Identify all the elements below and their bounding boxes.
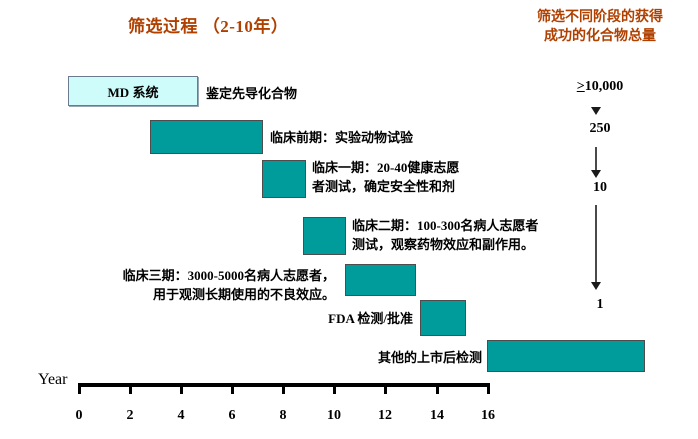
bar-phase-3 [345,264,416,296]
compound-count-1-value: 10,000 [585,79,624,94]
axis-tick-0 [78,387,81,394]
page-title: 筛选过程 （2-10年） [128,12,288,37]
stage-label-preclinical: 临床前期：实验动物试验 [270,128,413,147]
arrow-head-icon [591,170,601,178]
axis-caption-year: Year [38,371,67,389]
stage-label-post-market: 其他的上市后检测 [320,348,482,367]
axis-tick-6 [231,387,234,394]
right-column-heading: 筛选不同阶段的获得 成功的化合物总量 [510,8,690,46]
bar-fda-review [420,300,466,336]
compound-count-3: 10 [530,180,670,196]
stage-label-phase-2-line-1: 临床二期：100-300名病人志愿者 [352,216,538,235]
stage-label-fda-review: FDA 检测/批准 [250,309,413,328]
axis-tick-label-2: 2 [118,408,142,424]
bar-preclinical [150,120,263,154]
bar-phase-2 [303,217,346,255]
axis-tick-4 [180,387,183,394]
arrow-head-icon [591,107,601,115]
compound-count-2: 250 [530,121,670,137]
axis-tick-label-14: 14 [425,408,449,424]
stage-label-phase-1-line-2: 者测试，确定安全性和剂 [312,177,459,196]
axis-tick-12 [384,387,387,394]
axis-tick-label-6: 6 [220,408,244,424]
axis-tick-label-0: 0 [67,408,91,424]
arrow-shaft [595,147,597,170]
stage-label-phase-1-line-1: 临床一期：20-40健康志愿 [312,158,459,177]
md-system-box: MD 系统 [68,76,198,106]
stage-label-phase-3-line-1: 临床三期：3000-5000名病人志愿者， [50,266,335,285]
compound-count-1: >10,000 [530,79,670,95]
axis-tick-label-8: 8 [271,408,295,424]
axis-tick-label-12: 12 [373,408,397,424]
stage-label-phase-2: 临床二期：100-300名病人志愿者 测试，观察药物效应和副作用。 [352,216,538,254]
stage-label-phase-2-line-2: 测试，观察药物效应和副作用。 [352,235,538,254]
arrow-shaft [595,205,597,282]
md-system-label: MD 系统 [108,82,159,101]
drug-development-timeline-diagram: 筛选过程 （2-10年） 筛选不同阶段的获得 成功的化合物总量 MD 系统 鉴定… [0,0,698,439]
axis-tick-14 [436,387,439,394]
axis-tick-label-4: 4 [169,408,193,424]
axis-tick-2 [129,387,132,394]
right-column-heading-line-2: 成功的化合物总量 [510,27,690,46]
stage-label-phase-1: 临床一期：20-40健康志愿 者测试，确定安全性和剂 [312,158,459,196]
stage-label-lead-identification: 鉴定先导化合物 [206,84,297,103]
axis-tick-16 [487,387,490,394]
bar-post-market [487,340,645,372]
bar-phase-1 [262,160,306,198]
arrow-down-3 [591,205,601,290]
axis-tick-10 [333,387,336,394]
greater-equal-symbol: > [577,79,585,94]
axis-tick-label-16: 16 [476,408,500,424]
axis-tick-label-10: 10 [322,408,346,424]
stage-label-phase-3-line-2: 用于观测长期使用的不良效应。 [50,285,335,304]
right-column-heading-line-1: 筛选不同阶段的获得 [510,8,690,27]
arrow-down-1 [591,107,601,115]
axis-tick-8 [282,387,285,394]
arrow-head-icon [591,282,601,290]
stage-label-phase-3: 临床三期：3000-5000名病人志愿者， 用于观测长期使用的不良效应。 [50,266,335,304]
compound-count-4: 1 [530,297,670,313]
arrow-down-2 [591,147,601,178]
